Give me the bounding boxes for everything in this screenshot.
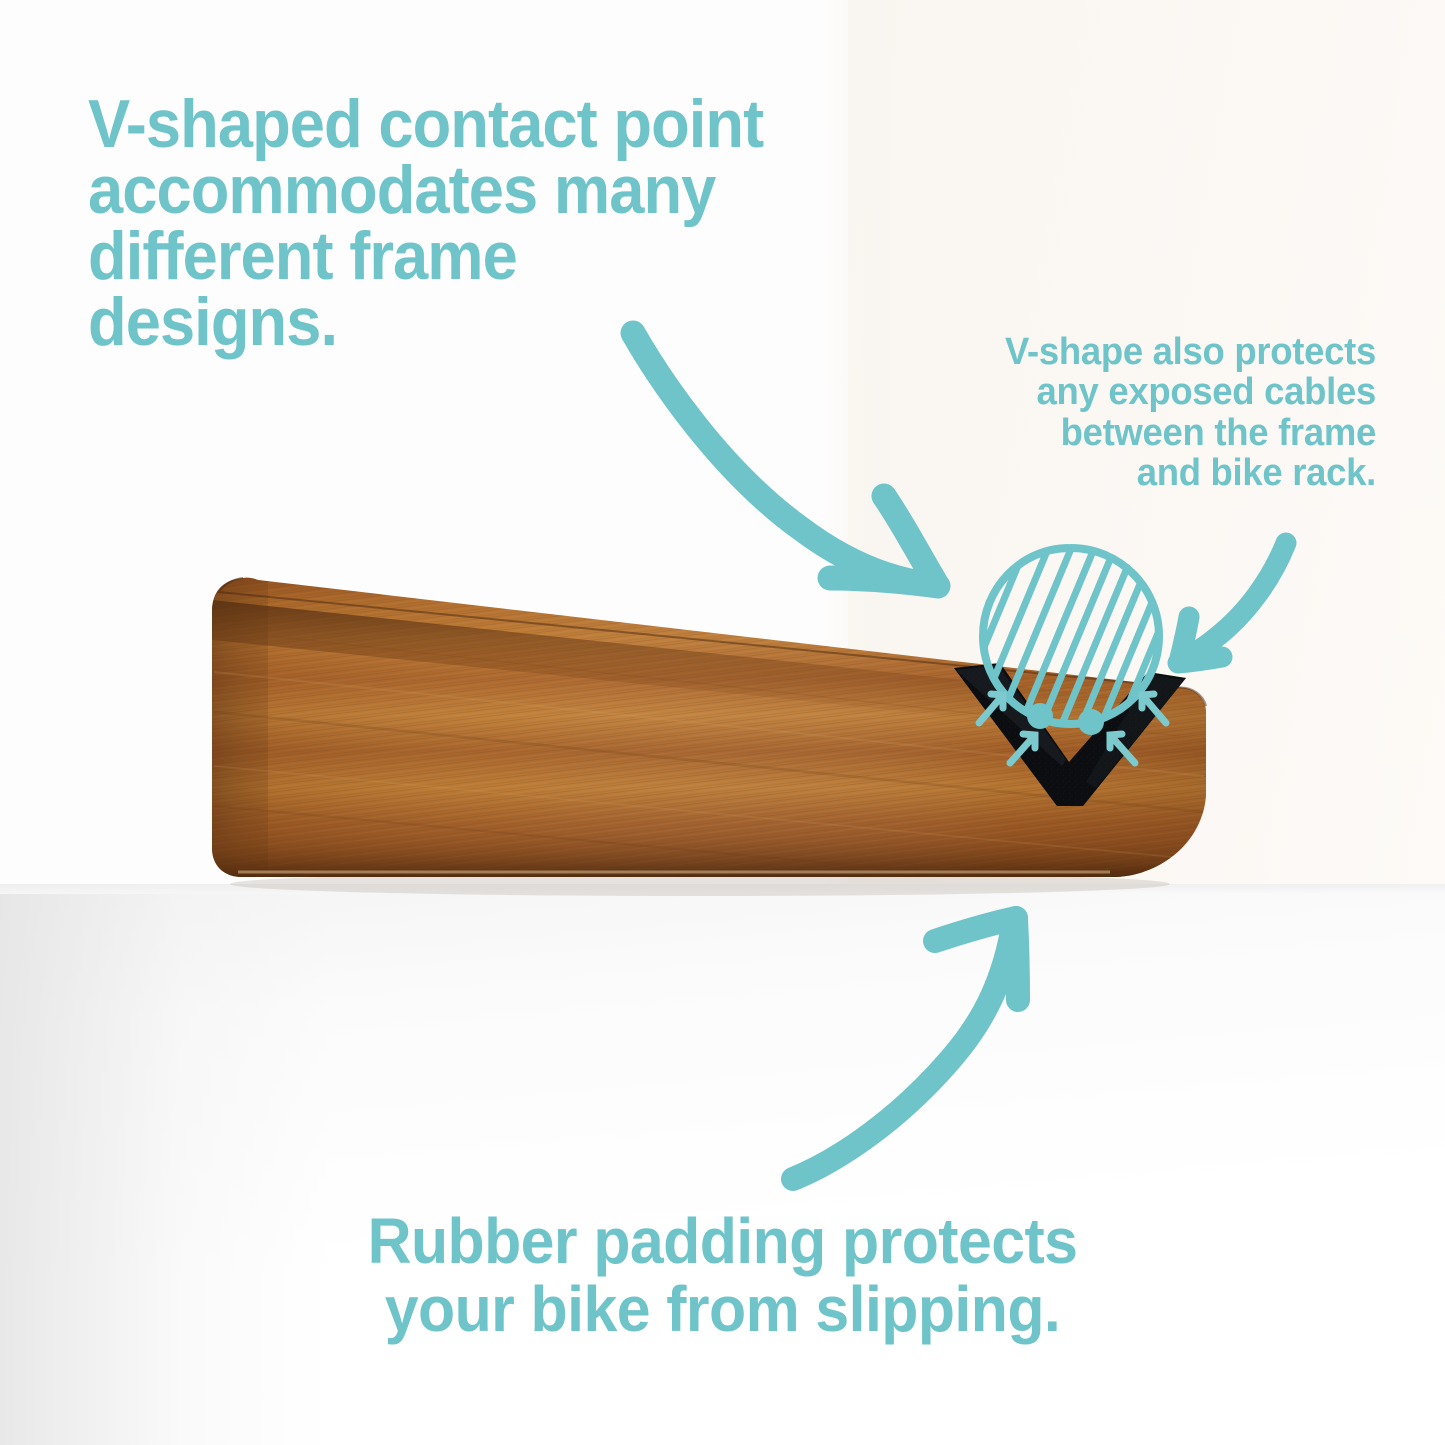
- bottom-caption-line: Rubber padding protects: [36, 1208, 1409, 1276]
- callout-right-line: between the frame: [842, 413, 1376, 453]
- callout-right: V-shape also protects any exposed cables…: [842, 332, 1376, 493]
- callout-right-line: and bike rack.: [842, 453, 1376, 493]
- callout-right-line: any exposed cables: [842, 372, 1376, 412]
- bottom-caption: Rubber padding protects your bike from s…: [36, 1208, 1409, 1344]
- headline-line: designs.: [88, 290, 906, 356]
- headline: V-shaped contact point accommodates many…: [88, 92, 906, 356]
- headline-line: different frame: [88, 224, 906, 290]
- callout-right-line: V-shape also protects: [842, 332, 1376, 372]
- table-edge: [0, 884, 1445, 894]
- infographic-scene: V-shaped contact point accommodates many…: [0, 0, 1445, 1445]
- table-shadow: [0, 894, 330, 1445]
- headline-line: V-shaped contact point: [88, 92, 906, 158]
- headline-line: accommodates many: [88, 158, 906, 224]
- bottom-caption-line: your bike from slipping.: [36, 1276, 1409, 1344]
